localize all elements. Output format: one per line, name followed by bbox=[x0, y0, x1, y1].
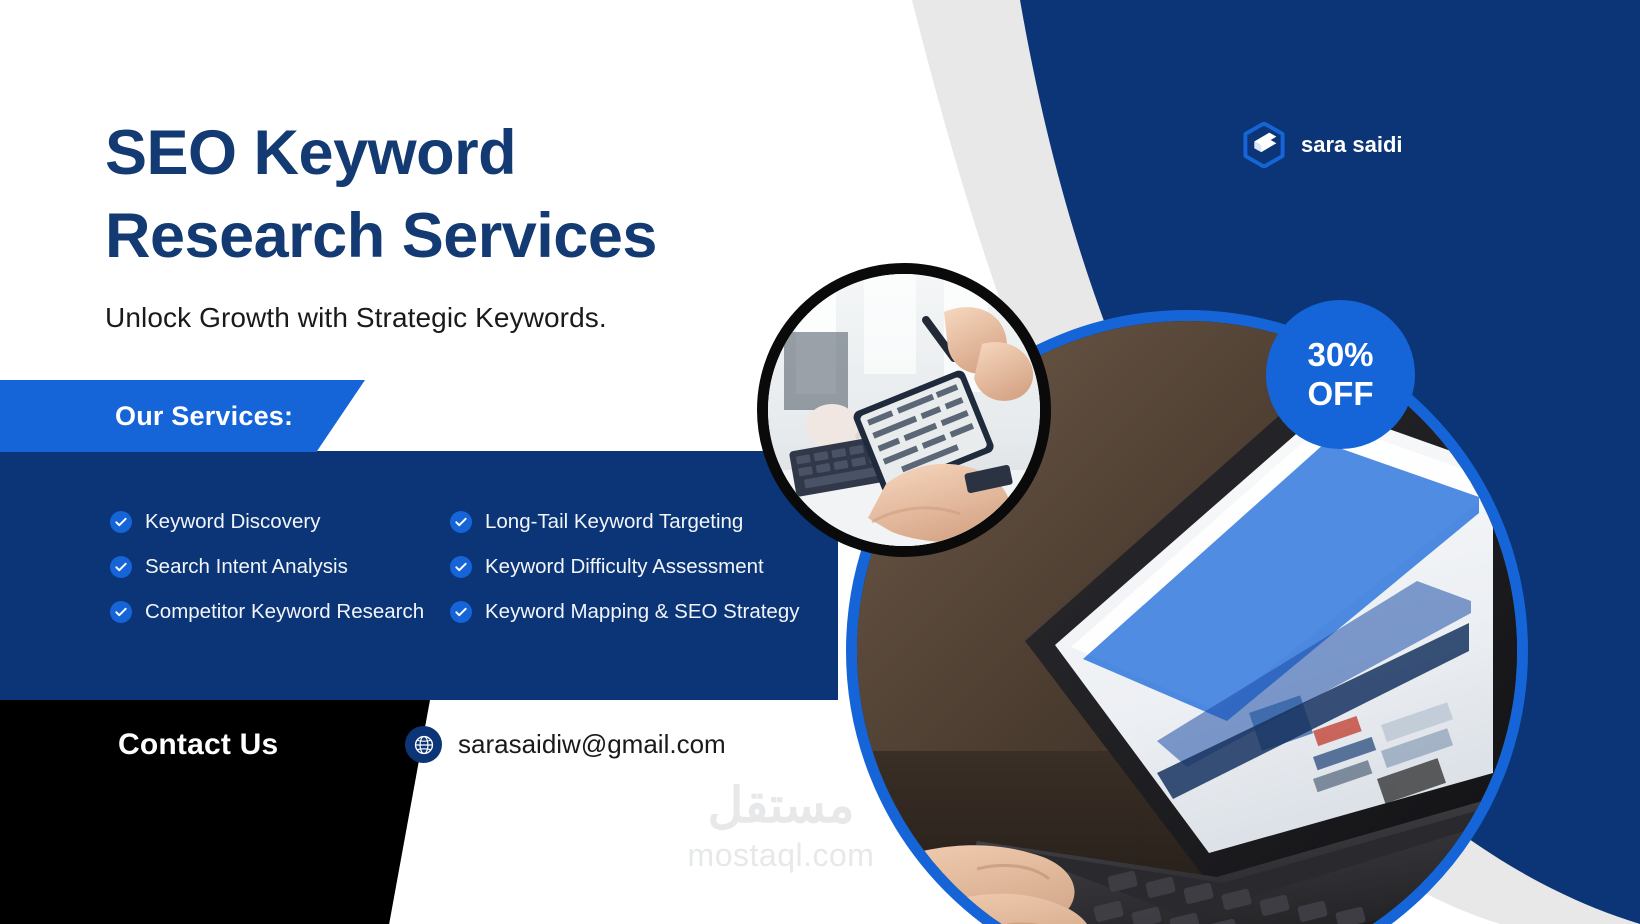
page-title: SEO Keyword Research Services bbox=[105, 112, 865, 278]
service-label: Competitor Keyword Research bbox=[145, 600, 424, 624]
globe-icon bbox=[405, 726, 442, 763]
service-label: Long-Tail Keyword Targeting bbox=[485, 510, 743, 534]
brand-logo: sara saidi bbox=[1242, 122, 1403, 168]
title-line-2: Research Services bbox=[105, 195, 865, 278]
discount-label: OFF bbox=[1308, 375, 1374, 414]
poster-canvas: SEO Keyword Research Services Unlock Gro… bbox=[0, 0, 1640, 924]
contact-email-text: sarasaidiw@gmail.com bbox=[458, 729, 726, 760]
service-item: Keyword Mapping & SEO Strategy bbox=[450, 590, 800, 634]
watermark-latin: mostaql.com bbox=[676, 839, 886, 871]
service-label: Keyword Difficulty Assessment bbox=[485, 555, 764, 579]
person-reviewing-tablet-photo bbox=[757, 263, 1051, 557]
service-label: Keyword Discovery bbox=[145, 510, 320, 534]
check-circle-icon bbox=[450, 511, 472, 533]
services-heading-label: Our Services: bbox=[115, 401, 293, 432]
service-label: Search Intent Analysis bbox=[145, 555, 348, 579]
check-circle-icon bbox=[110, 601, 132, 623]
hexagon-s-logo-icon bbox=[1242, 122, 1286, 168]
contact-title: Contact Us bbox=[118, 728, 278, 762]
services-left-column: Keyword Discovery Search Intent Analysis… bbox=[110, 500, 424, 635]
service-label: Keyword Mapping & SEO Strategy bbox=[485, 600, 800, 624]
check-circle-icon bbox=[110, 556, 132, 578]
service-item: Long-Tail Keyword Targeting bbox=[450, 500, 800, 544]
title-line-1: SEO Keyword bbox=[105, 112, 865, 195]
check-circle-icon bbox=[450, 601, 472, 623]
discount-badge: 30% OFF bbox=[1266, 300, 1415, 449]
service-item: Keyword Difficulty Assessment bbox=[450, 545, 800, 589]
service-item: Search Intent Analysis bbox=[110, 545, 424, 589]
discount-percent: 30% bbox=[1307, 336, 1373, 375]
brand-name-label: sara saidi bbox=[1301, 132, 1403, 158]
services-right-column: Long-Tail Keyword Targeting Keyword Diff… bbox=[450, 500, 800, 635]
contact-email-row[interactable]: sarasaidiw@gmail.com bbox=[405, 726, 726, 763]
watermark-arabic: مستقل bbox=[676, 782, 886, 831]
service-item: Keyword Discovery bbox=[110, 500, 424, 544]
page-subtitle: Unlock Growth with Strategic Keywords. bbox=[105, 302, 865, 334]
mostaql-watermark: مستقل mostaql.com bbox=[676, 782, 886, 878]
services-heading-ribbon: Our Services: bbox=[0, 380, 365, 452]
service-item: Competitor Keyword Research bbox=[110, 590, 424, 634]
check-circle-icon bbox=[110, 511, 132, 533]
check-circle-icon bbox=[450, 556, 472, 578]
